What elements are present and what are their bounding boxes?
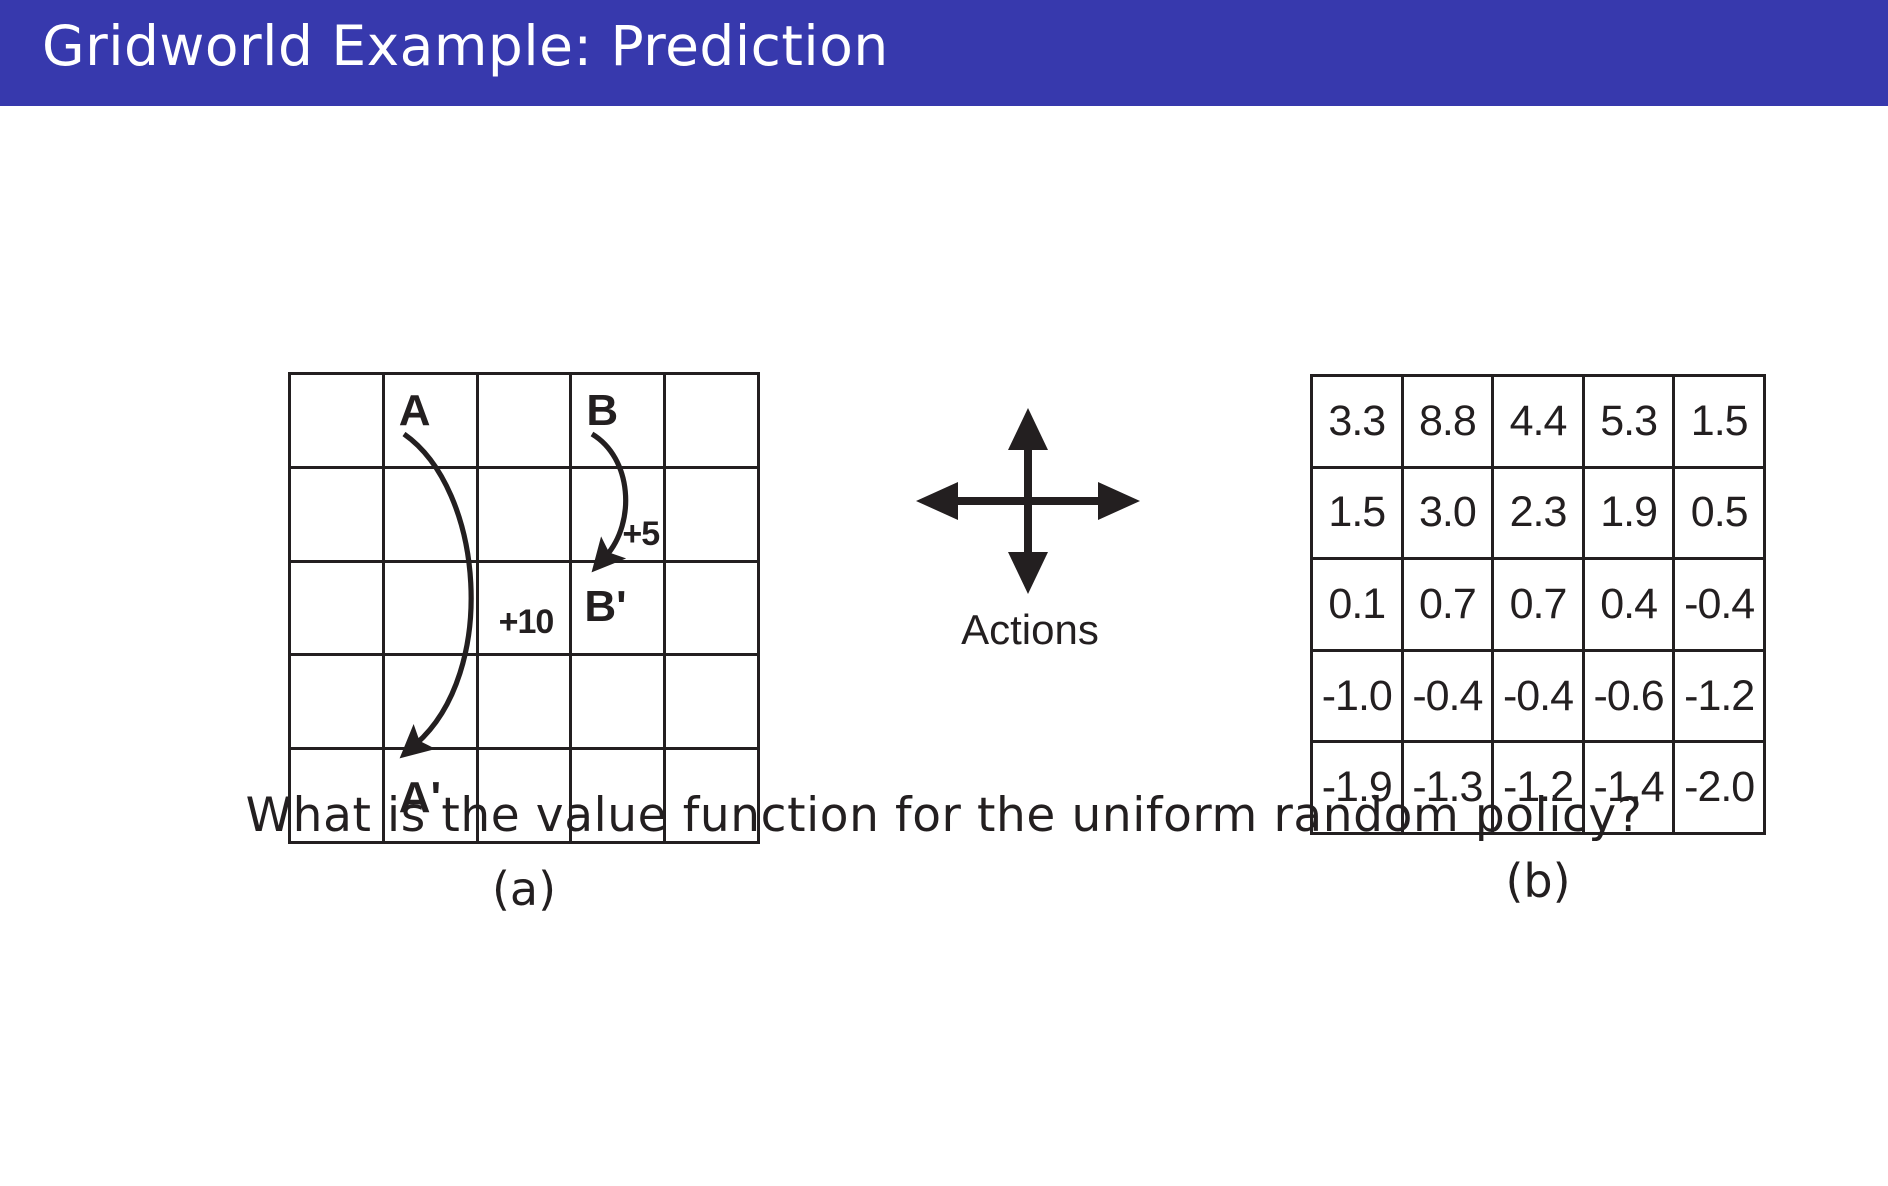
- value-function-figure-b: 3.3 8.8 4.4 5.3 1.5 1.5 3.0 2.3 1.9 0.5 …: [1310, 374, 1766, 835]
- page-title: Gridworld Example: Prediction: [42, 14, 889, 78]
- arrow-right-icon: [1098, 482, 1140, 520]
- value-cell-r3c1: 0.1: [1313, 560, 1404, 652]
- arrow-up-icon: [1008, 408, 1048, 450]
- value-cell-r2c5: 0.5: [1675, 469, 1766, 561]
- value-cell-r1c5: 1.5: [1675, 377, 1766, 469]
- grid-cell-r3c5: [666, 563, 760, 657]
- figure-caption-a: (a): [288, 862, 760, 916]
- value-cell-r1c3: 4.4: [1494, 377, 1585, 469]
- value-cell-r1c4: 5.3: [1585, 377, 1676, 469]
- grid-cell-r1c2: A: [385, 375, 479, 469]
- value-cell-r2c2: 3.0: [1404, 469, 1495, 561]
- grid-cell-r1c3: [479, 375, 573, 469]
- reward-label-plus5: +5: [622, 517, 659, 551]
- arrow-down-icon: [1008, 552, 1048, 594]
- value-grid: 3.3 8.8 4.4 5.3 1.5 1.5 3.0 2.3 1.9 0.5 …: [1310, 374, 1766, 835]
- actions-figure: Actions: [900, 406, 1160, 706]
- grid-cell-r4c2: [385, 656, 479, 750]
- gridworld-figure-a: A B +5 +10 B': [288, 372, 760, 844]
- value-cell-r2c4: 1.9: [1585, 469, 1676, 561]
- grid-cell-r4c3: [479, 656, 573, 750]
- grid-cell-r2c1: [291, 469, 385, 563]
- value-cell-r1c2: 8.8: [1404, 377, 1495, 469]
- grid-cell-r3c2: [385, 563, 479, 657]
- value-cell-r3c5: -0.4: [1675, 560, 1766, 652]
- value-cell-r1c1: 3.3: [1313, 377, 1404, 469]
- grid-cell-r4c5: [666, 656, 760, 750]
- value-cell-r2c1: 1.5: [1313, 469, 1404, 561]
- grid-cell-r2c2: [385, 469, 479, 563]
- value-cell-r4c4: -0.6: [1585, 652, 1676, 744]
- slide-body: A B +5 +10 B': [0, 106, 1888, 1186]
- value-cell-r4c3: -0.4: [1494, 652, 1585, 744]
- four-way-arrow-icon: [900, 406, 1160, 596]
- state-label-b: B: [586, 389, 618, 433]
- grid-cell-r4c4: [572, 656, 666, 750]
- value-cell-r3c2: 0.7: [1404, 560, 1495, 652]
- grid-cell-r2c4: +5: [572, 469, 666, 563]
- value-cell-r4c5: -1.2: [1675, 652, 1766, 744]
- value-cell-r2c3: 2.3: [1494, 469, 1585, 561]
- grid-cell-r1c4: B: [572, 375, 666, 469]
- value-cell-r3c3: 0.7: [1494, 560, 1585, 652]
- slide-title-bar: Gridworld Example: Prediction: [0, 0, 1888, 106]
- state-label-b-prime: B': [584, 585, 626, 629]
- grid-cell-r1c5: [666, 375, 760, 469]
- grid-cell-r3c4: B': [572, 563, 666, 657]
- gridworld-grid: A B +5 +10 B': [288, 372, 760, 844]
- grid-cell-r3c1: [291, 563, 385, 657]
- grid-cell-r2c3: [479, 469, 573, 563]
- figure-caption-b: (b): [1310, 854, 1766, 908]
- value-cell-r4c2: -0.4: [1404, 652, 1495, 744]
- actions-label: Actions: [900, 606, 1160, 654]
- state-label-a: A: [399, 389, 431, 433]
- grid-cell-r4c1: [291, 656, 385, 750]
- value-cell-r4c1: -1.0: [1313, 652, 1404, 744]
- reward-label-plus10: +10: [499, 605, 554, 639]
- grid-cell-r2c5: [666, 469, 760, 563]
- grid-cell-r3c3: +10: [479, 563, 573, 657]
- arrow-left-icon: [916, 482, 958, 520]
- value-cell-r3c4: 0.4: [1585, 560, 1676, 652]
- grid-cell-r1c1: [291, 375, 385, 469]
- question-text: What is the value function for the unifo…: [0, 788, 1888, 843]
